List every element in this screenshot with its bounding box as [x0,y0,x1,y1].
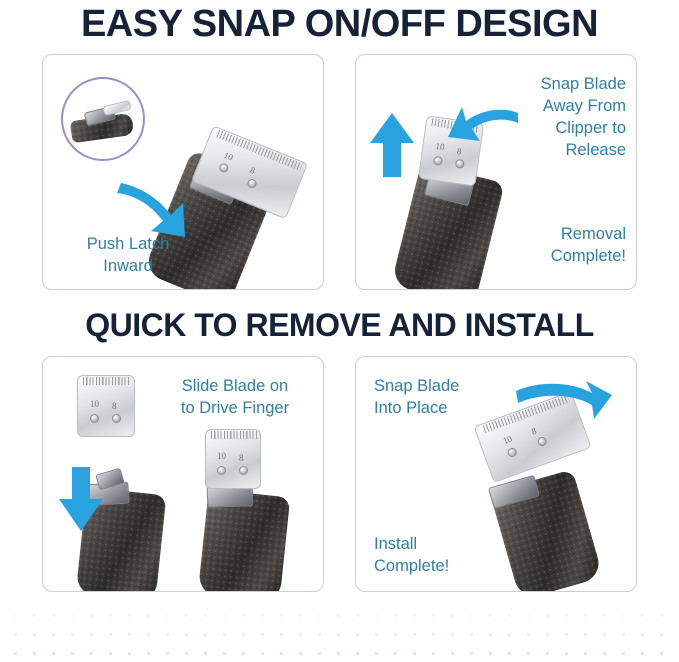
latch-detail-illustration [71,99,135,141]
blade-mark-10: 10 [502,434,514,446]
slide-blade-caption: Slide Blade on to Drive Finger [155,375,315,419]
product-infographic: EASY SNAP ON/OFF DESIGN 10 8 [0,0,679,662]
snap-into-place-caption: Snap Blade Into Place [374,375,524,419]
page-title-primary: EASY SNAP ON/OFF DESIGN [0,2,679,46]
detached-blade: 10 8 [77,375,135,437]
blade-mark-8-right: 8 [239,454,244,463]
push-latch-caption: Push Latch Inward [53,233,203,277]
blade-mark-8: 8 [249,166,257,176]
blade-mark-10: 10 [222,151,234,163]
snap-away-arrow-up [368,113,418,179]
panel-snap-into-place: 10 8 Snap Blade Into Place Install Compl… [355,356,637,592]
blade-mark-10: 10 [90,400,99,409]
blade-mark-8: 8 [112,402,117,411]
panel-snap-blade-away: 10 8 Snap Blade Away From Clipper to Rel… [355,54,637,290]
snap-away-caption: Snap Blade Away From Clipper to Release [484,73,626,161]
panel-slide-blade: 10 8 10 8 [42,356,324,592]
dot-band-fade-overlay [0,600,679,662]
page-title-secondary: QUICK TO REMOVE AND INSTALL [0,306,679,344]
slide-blade-arrow-down [55,465,107,531]
clipper-blade: 10 8 [205,429,261,489]
install-complete-caption: Install Complete! [374,533,524,577]
snap-into-place-arrow [516,381,612,437]
blade-mark-10: 10 [435,142,445,152]
panel-push-latch: 10 8 Push Latch Inward [42,54,324,290]
blade-mark-10-right: 10 [217,452,226,461]
clipper-illustration-right: 10 8 [183,427,303,592]
removal-complete-caption: Removal Complete! [484,223,626,267]
